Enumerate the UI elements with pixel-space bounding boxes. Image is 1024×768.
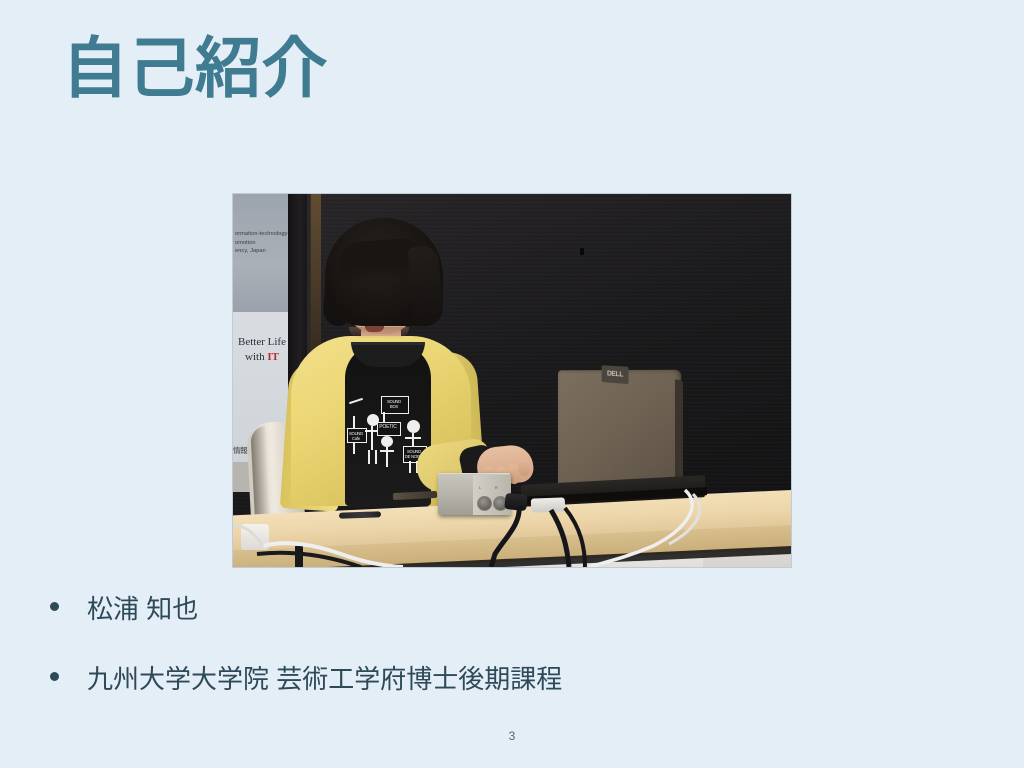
bullet-text: 松浦 知也 (87, 592, 198, 626)
slide: 自己紹介 ormation-technology omotion ency, J… (0, 0, 1024, 768)
cables (233, 194, 791, 567)
bullet-item: 松浦 知也 (50, 592, 198, 626)
bullet-item: 九州大学大学院 芸術工学府博士後期課程 (50, 662, 562, 696)
bullet-dot-icon (50, 602, 59, 611)
presenter-photo: ormation-technology omotion ency, Japan … (233, 194, 791, 567)
page-title: 自己紹介 (62, 26, 328, 110)
bullet-dot-icon (50, 672, 59, 681)
page-number: 3 (0, 729, 1024, 743)
bullet-text: 九州大学大学院 芸術工学府博士後期課程 (87, 662, 562, 696)
